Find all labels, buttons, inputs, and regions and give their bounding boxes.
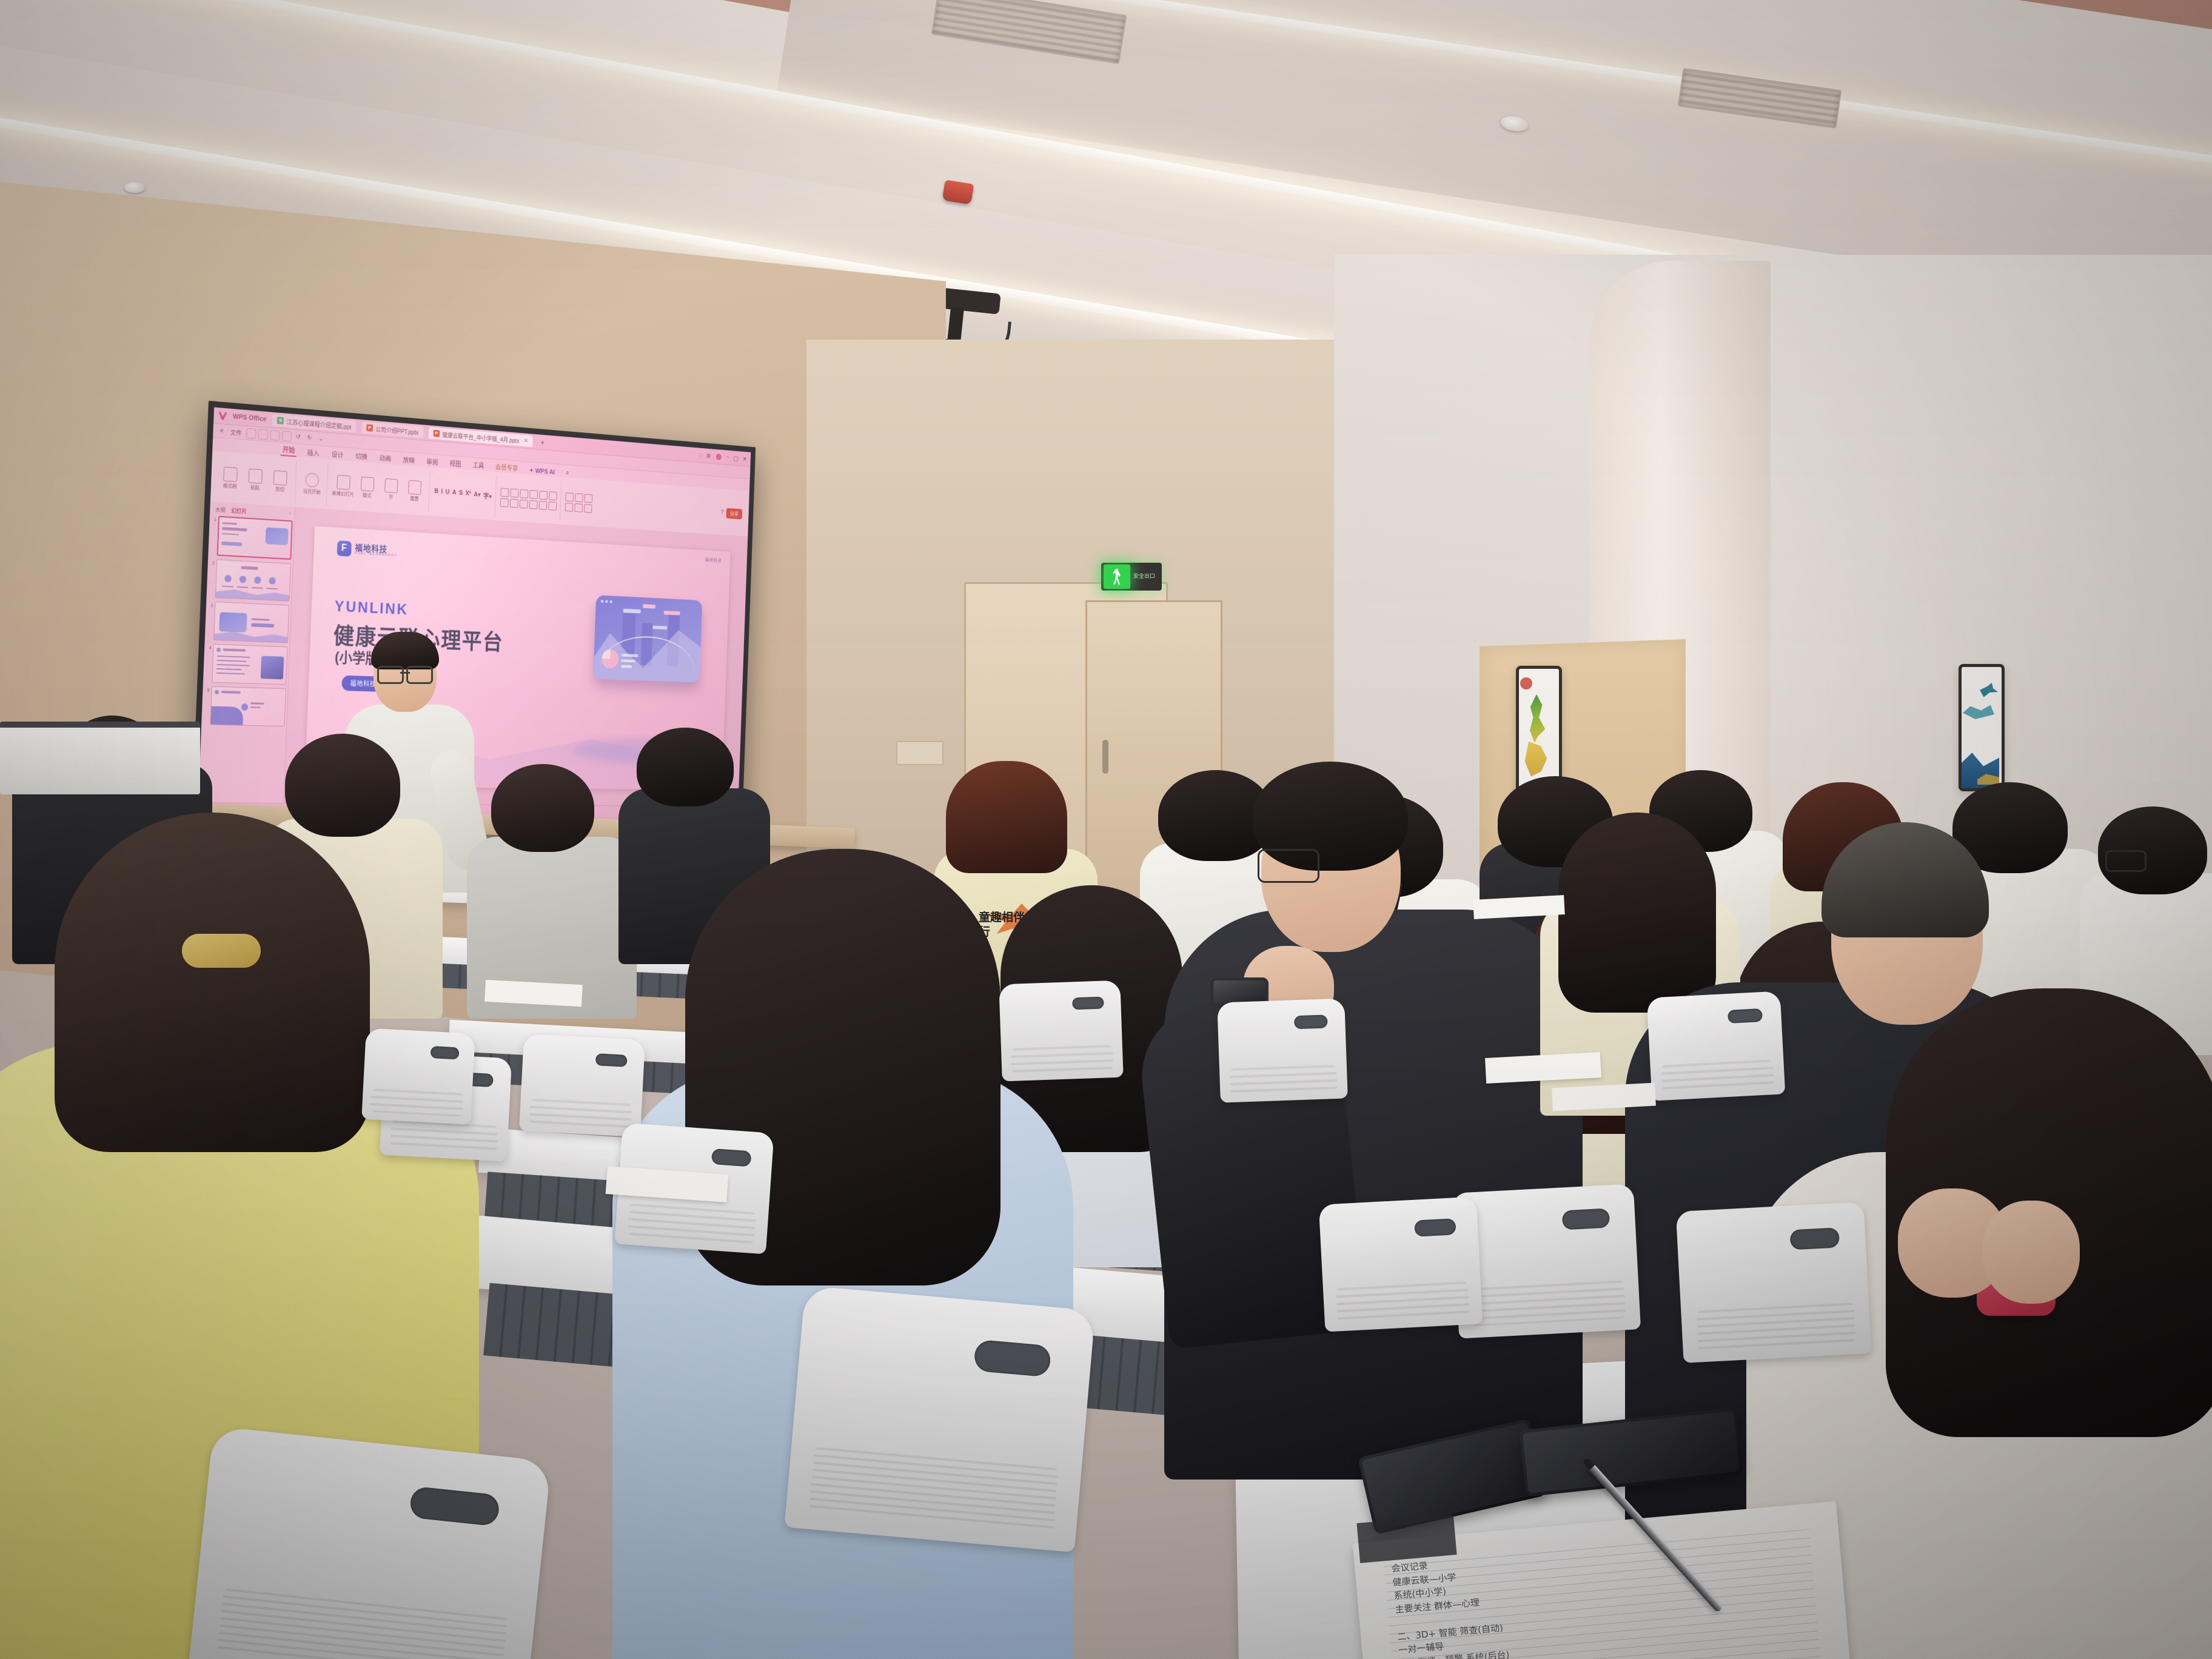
paste-icon (249, 468, 263, 483)
wall-art-peacock (1516, 666, 1562, 793)
new-slide-icon (337, 475, 350, 490)
search-icon[interactable]: ⌕ (564, 469, 571, 478)
ribbon-tab-tools[interactable]: 工具 (471, 460, 486, 471)
notebook-binding (1356, 1515, 1456, 1563)
ribbon-group-paragraph (496, 476, 561, 521)
thumbnail-4-preview (212, 644, 287, 685)
underline-button[interactable]: U (445, 489, 449, 498)
paste-button[interactable]: 粘贴 (244, 468, 267, 492)
chair[interactable] (1319, 1196, 1483, 1332)
file-menu-button[interactable]: 文件 (228, 426, 244, 438)
slide-corner-badge: 福地科技 (705, 557, 722, 564)
help-circle-icon[interactable]: ? (721, 509, 724, 515)
ribbon-tab-insert[interactable]: 插入 (305, 447, 321, 459)
smoke-detector-icon (124, 182, 145, 193)
ribbon-group-slideshow: 当页开始 (296, 461, 328, 506)
door-handle[interactable] (1102, 740, 1108, 774)
exit-sign-label: 安全出口 (1133, 574, 1155, 580)
document-tab-2-label: 公司介绍PPT.pptx (375, 424, 418, 436)
wps-presentation-icon: P (366, 424, 373, 432)
wps-ai-label: WPS AI (535, 468, 555, 476)
thumbnail-1-preview (217, 516, 293, 560)
undo-icon[interactable]: ↺ (293, 433, 303, 441)
chair[interactable] (519, 1034, 645, 1137)
cloud-icon[interactable] (282, 431, 292, 441)
superscript-button[interactable]: X² (465, 490, 471, 500)
slide-thumbnail-panel: 大纲 幻灯片 ‹ 1 (198, 501, 295, 803)
font-style-row: B I U A S X² A▾ 字▾ (434, 488, 492, 501)
reset-icon (408, 480, 421, 494)
dashboard-illustration (593, 595, 702, 682)
ribbon-tab-slideshow[interactable]: 放映 (401, 455, 417, 466)
chair[interactable] (1647, 991, 1786, 1101)
highlight-button[interactable]: 字▾ (483, 491, 492, 501)
window-controls: ◌ ⚙ − ▢ ✕ (699, 451, 747, 463)
line-spacing-icon (539, 491, 548, 500)
print-icon[interactable] (258, 429, 269, 440)
fudi-logo-icon (337, 540, 351, 557)
format-painter-icon (223, 466, 238, 481)
wall-art-bird-landscape (1959, 664, 2005, 791)
font-color-button[interactable]: A▾ (474, 491, 481, 500)
document-tab-3-label: 健康云联平台_中小学版_4月.pptx (442, 429, 519, 444)
outline-icon (575, 503, 583, 512)
wps-logo-icon (218, 412, 227, 420)
ribbon-tab-transition[interactable]: 切换 (354, 451, 369, 462)
justify-icon (529, 500, 538, 509)
wall-outlet-plate (896, 741, 943, 765)
select-icon (584, 504, 592, 513)
settings-icon[interactable]: ⚙ (706, 452, 711, 460)
tab-outline[interactable]: 大纲 (215, 505, 226, 514)
drawing-icon-grid[interactable] (565, 492, 592, 513)
wps-presentation-icon: P (433, 430, 440, 437)
chair[interactable] (1217, 998, 1348, 1102)
tab-slides[interactable]: 幻灯片 (231, 506, 247, 515)
bullets-icon (501, 488, 509, 497)
bold-button[interactable]: B (434, 488, 439, 497)
chevron-left-icon[interactable]: ‹ (289, 510, 290, 518)
slide-eyebrow: YUNLINK (334, 597, 409, 619)
ribbon-tab-member[interactable]: 会员专享 (494, 461, 520, 474)
ribbon-group-slides: 新建幻灯片 版式 节 重置 (328, 464, 431, 513)
maximize-icon[interactable]: ▢ (734, 454, 739, 461)
slide-logo: 福地科技 FUDI TECHNOLOGY (337, 540, 398, 559)
increase-indent-icon (530, 490, 538, 499)
glasses-icon (2105, 850, 2147, 872)
chair[interactable] (189, 1426, 552, 1659)
ribbon-group-drawing (561, 481, 597, 524)
ribbon-right-actions: ? 分享 (721, 508, 746, 520)
font-button[interactable]: A (452, 489, 456, 498)
attendee-hand (1983, 1201, 2080, 1304)
distribute-icon (539, 501, 548, 510)
ribbon-tab-design[interactable]: 设计 (330, 449, 346, 460)
chair[interactable] (784, 1285, 1095, 1552)
ribbon-tab-animation[interactable]: 动画 (378, 452, 394, 464)
fire-alarm-icon (942, 179, 974, 204)
glasses-icon (1258, 849, 1319, 883)
wps-brand-label: WPS Office (233, 413, 267, 423)
text-direction-icon (549, 491, 557, 500)
redo-icon[interactable]: ↻ (305, 434, 315, 442)
ribbon-tab-review[interactable]: 审阅 (424, 456, 440, 468)
thumbnail-5[interactable]: 5 (203, 686, 286, 726)
start-from-current-button[interactable]: 当页开始 (301, 472, 324, 495)
thumbnail-3[interactable]: 3 (207, 602, 290, 643)
numbering-icon (511, 488, 519, 497)
layout-icon (361, 477, 374, 492)
ribbon-group-clipboard: 格式刷 粘贴 剪切 (214, 455, 297, 504)
ribbon-tab-start[interactable]: 开始 (281, 444, 297, 457)
align-center-icon (510, 498, 518, 508)
strikethrough-button[interactable]: S (459, 489, 463, 499)
save-icon[interactable] (246, 427, 256, 438)
reset-button[interactable]: 重置 (404, 480, 426, 503)
thumbnail-2[interactable]: 2 (208, 559, 291, 602)
ribbon-group-font: B I U A S X² A▾ 字▾ (430, 471, 497, 517)
chair[interactable] (999, 980, 1123, 1082)
shapes-icon (566, 492, 574, 501)
avatar[interactable] (715, 452, 722, 461)
help-icon[interactable]: ◌ (699, 452, 702, 458)
hamburger-icon[interactable]: ≡ (218, 427, 226, 435)
align-right-icon (520, 499, 528, 508)
decrease-indent-icon (520, 489, 529, 498)
chair[interactable] (1676, 1202, 1872, 1363)
share-button[interactable]: 分享 (726, 508, 742, 519)
thumbnail-5-preview (210, 686, 286, 727)
new-slide-button[interactable]: 新建幻灯片 (332, 474, 355, 497)
close-tab-icon[interactable]: ✕ (524, 438, 528, 444)
new-tab-button[interactable]: + (537, 438, 548, 447)
ai-sparkle-icon: ✦ (529, 467, 534, 475)
glasses-icon (377, 666, 433, 682)
layout-button[interactable]: 版式 (356, 476, 378, 499)
scissors-icon (273, 470, 287, 485)
textbox-icon (565, 503, 574, 512)
document-tab-2[interactable]: P 公司介绍PPT.pptx (361, 421, 424, 438)
thumbnail-3-preview (213, 602, 289, 643)
close-icon[interactable]: ✕ (742, 455, 746, 463)
hair-tie (182, 934, 261, 968)
thumbnail-1[interactable]: 1 (210, 515, 293, 560)
ribbon-tab-view[interactable]: 视图 (448, 458, 463, 469)
fill-icon (575, 493, 583, 502)
cut-button[interactable]: 剪切 (269, 470, 292, 494)
italic-button[interactable]: I (441, 488, 443, 497)
presenter-hair (371, 632, 439, 669)
exit-sign: 安全出口 (1101, 563, 1162, 591)
section-button[interactable]: 节 (380, 478, 403, 501)
play-icon (305, 472, 319, 488)
chair[interactable] (361, 1028, 475, 1124)
arrange-icon (585, 494, 593, 503)
thumbnail-2-preview (215, 559, 291, 601)
align-left-icon (500, 498, 509, 507)
paragraph-icon-grid[interactable] (500, 488, 557, 510)
minimize-icon[interactable]: − (726, 454, 729, 461)
format-painter-button[interactable]: 格式刷 (218, 466, 242, 490)
laptop (0, 722, 200, 794)
running-man-exit-icon (1104, 565, 1130, 589)
thumbnail-4[interactable]: 4 (205, 643, 288, 685)
document-tab-1-label: 江苏心理课程介绍定稿.ppt (287, 417, 352, 431)
wps-spreadsheet-icon: S (277, 417, 284, 424)
print-preview-icon[interactable] (270, 430, 280, 441)
section-icon (384, 478, 398, 493)
columns-icon (549, 501, 557, 511)
classroom-scene: 安全出口 WPS Office S 江苏心理课程介绍定稿.ppt (0, 0, 2212, 1659)
more-icon[interactable]: ⌄ (316, 435, 325, 443)
